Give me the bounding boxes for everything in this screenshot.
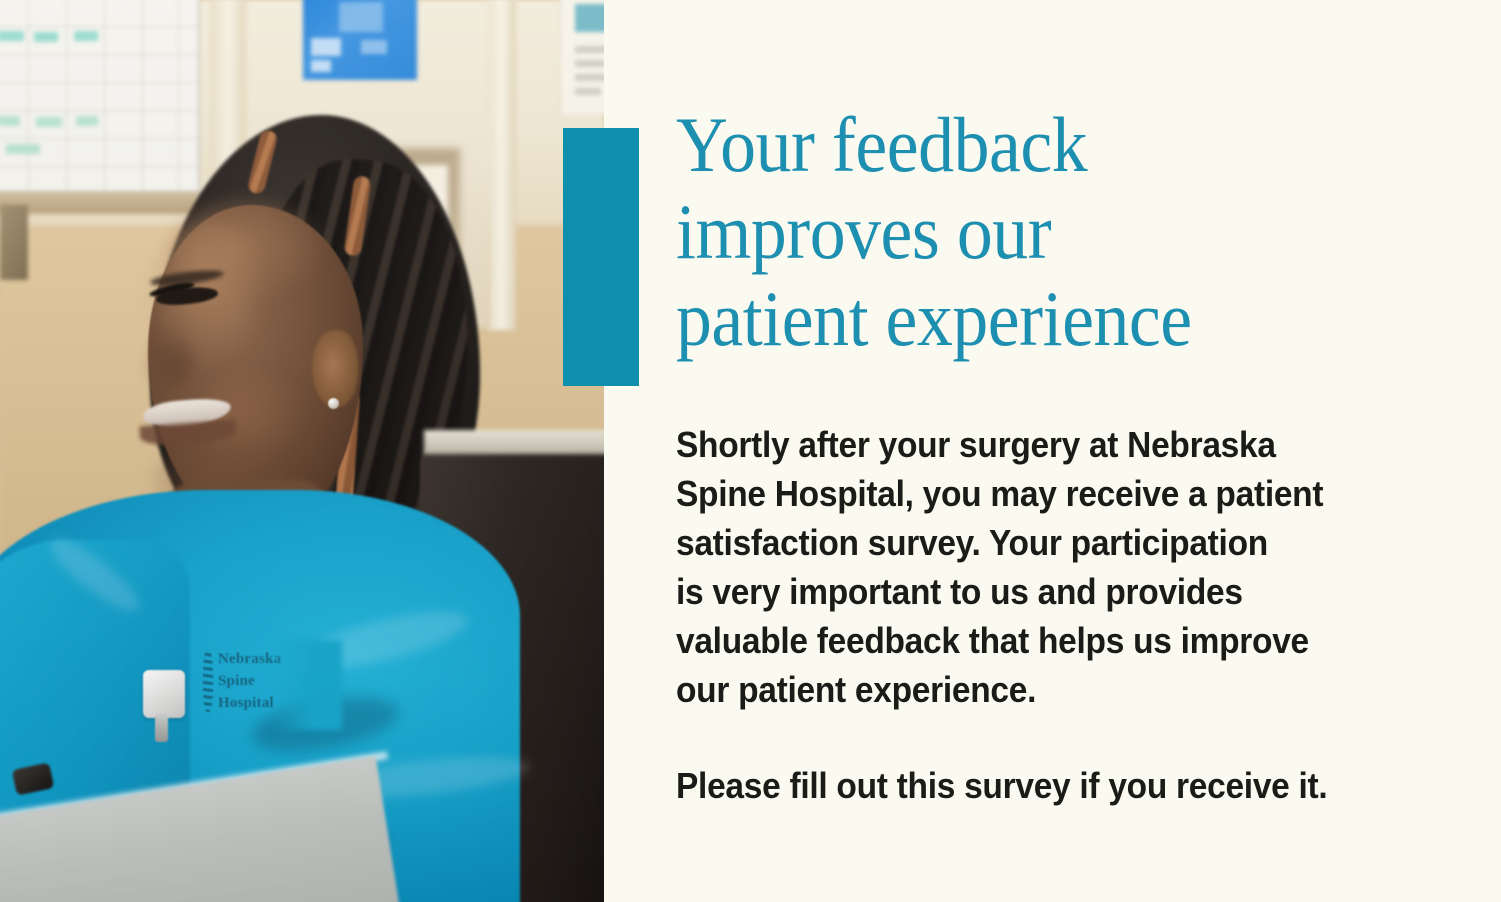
paragraph-1-line-2: Spine Hospital, you may receive a patien…: [676, 469, 1411, 518]
body-paragraph-1: Shortly after your surgery at Nebraska S…: [676, 420, 1411, 714]
door-frame-right: [488, 0, 516, 330]
content-panel: Your feedback improves our patient exper…: [604, 0, 1501, 902]
staff-photo: Nebraska Spine Hospital: [0, 0, 604, 902]
badge-clip: [143, 670, 185, 718]
wall-whiteboard-chart: [0, 0, 200, 194]
paragraph-1-line-3: satisfaction survey. Your participation: [676, 518, 1411, 567]
paragraph-2-line-1: Please fill out this survey if you recei…: [676, 761, 1411, 810]
patient-feedback-banner: Nebraska Spine Hospital Your feedback im…: [0, 0, 1501, 902]
scrub-logo-line-2: Spine: [218, 670, 255, 692]
paragraph-1-line-5: valuable feedback that helps us improve: [676, 616, 1411, 665]
headline-line-2: improves our: [676, 188, 1412, 275]
nose: [142, 328, 196, 390]
wall-outlet: [0, 205, 28, 280]
wall-shelf: [0, 192, 205, 214]
chair-headrest-edge: [424, 430, 604, 454]
badge-clip-tail: [155, 714, 168, 742]
headline-line-1: Your feedback: [676, 101, 1412, 188]
logo-fabric-fold-mask: [272, 640, 342, 730]
spine-logo-icon: [203, 650, 213, 712]
wall-poster-blue: [303, 0, 417, 80]
paragraph-1-line-6: our patient experience.: [676, 665, 1411, 714]
page-title: Your feedback improves our patient exper…: [676, 101, 1412, 362]
earring: [328, 398, 339, 409]
paragraph-1-line-4: is very important to us and provides: [676, 567, 1411, 616]
headline-line-3: patient experience: [676, 275, 1412, 362]
body-paragraph-2: Please fill out this survey if you recei…: [676, 761, 1411, 810]
ear: [312, 330, 358, 408]
scrub-logo-line-3: Hospital: [218, 692, 274, 714]
body-copy: Shortly after your surgery at Nebraska S…: [676, 420, 1466, 810]
wall-poster-right: [560, 0, 604, 114]
teal-accent-bar: [563, 128, 639, 386]
paragraph-1-line-1: Shortly after your surgery at Nebraska: [676, 420, 1411, 469]
